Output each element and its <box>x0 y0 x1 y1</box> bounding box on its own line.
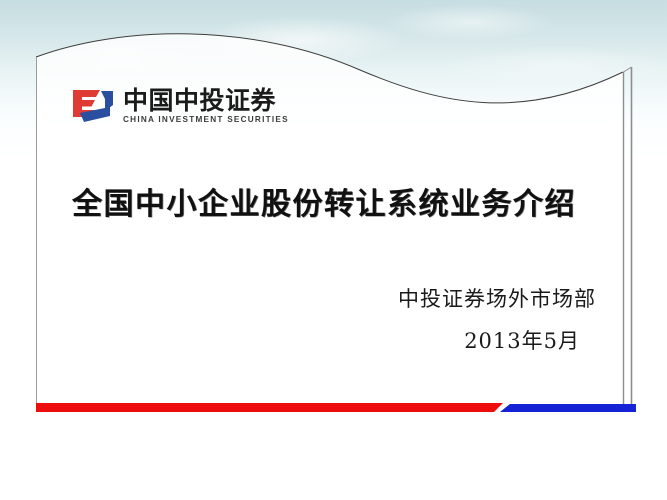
bottom-accent-bars <box>0 395 667 420</box>
presenter-department: 中投证券场外市场部 <box>0 285 596 313</box>
brand-wordmark: 中国中投证券 CHINA INVESTMENT SECURITIES <box>123 88 289 125</box>
slide-title: 全国中小企业股份转让系统业务介绍 <box>0 187 648 223</box>
presentation-date: 2013年5月 <box>0 327 580 355</box>
content-panel <box>0 0 667 500</box>
brand-logo: 中国中投证券 CHINA INVESTMENT SECURITIES <box>70 86 289 126</box>
brand-name-en: CHINA INVESTMENT SECURITIES <box>123 115 289 125</box>
logo-blue-shape-lower <box>80 107 110 122</box>
panel-fold-connector <box>624 67 632 72</box>
title-slide: 中国中投证券 CHINA INVESTMENT SECURITIES 全国中小企… <box>0 0 667 500</box>
red-accent-bar <box>36 403 503 412</box>
blue-accent-bar <box>500 404 636 412</box>
china-investment-securities-logo-mark-icon <box>70 86 116 126</box>
brand-name-cn: 中国中投证券 <box>123 88 289 114</box>
